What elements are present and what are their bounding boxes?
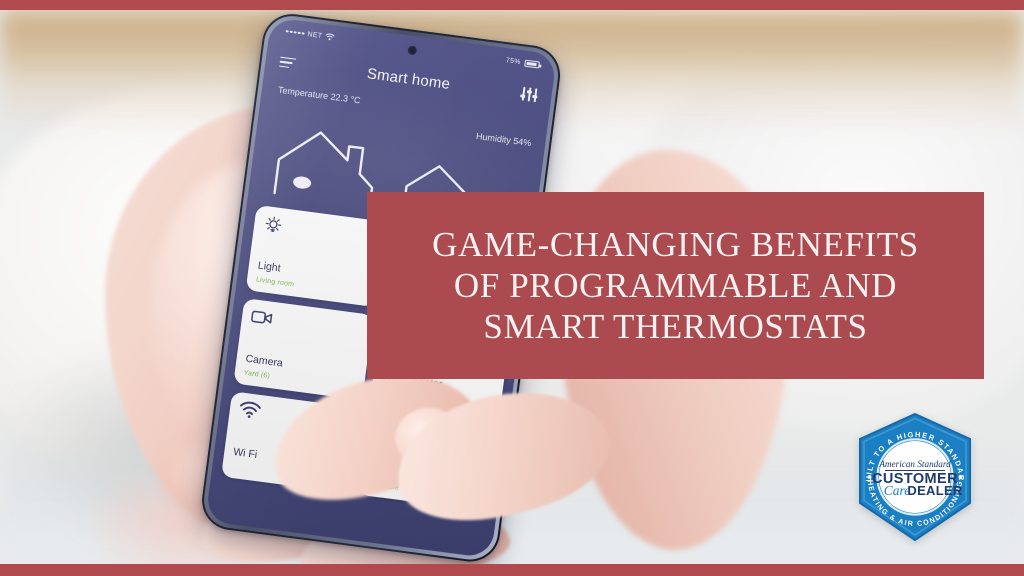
graphic-canvas: NET 75% — [0, 0, 1024, 576]
badge-dot-right — [959, 475, 963, 479]
badge-graphic: BUILT TO A HIGHER STANDARD HEATING & AIR… — [849, 411, 981, 543]
badge-line2-text: DEALER — [907, 483, 963, 498]
title-line-3: SMART THERMOSTATS — [483, 306, 867, 347]
title-line-2: OF PROGRAMMABLE AND — [454, 265, 897, 306]
badge-dot-left — [868, 475, 872, 479]
badge-brand-text: American Standard — [878, 459, 951, 469]
frame-bar-top — [0, 0, 1024, 10]
frame-bar-bottom — [0, 564, 1024, 576]
american-standard-dealer-badge: BUILT TO A HIGHER STANDARD HEATING & AIR… — [849, 411, 981, 543]
badge-script-text: Care — [884, 483, 911, 498]
title-line-1: GAME-CHANGING BENEFITS — [432, 224, 919, 265]
title-banner: GAME-CHANGING BENEFITS OF PROGRAMMABLE A… — [367, 192, 984, 379]
